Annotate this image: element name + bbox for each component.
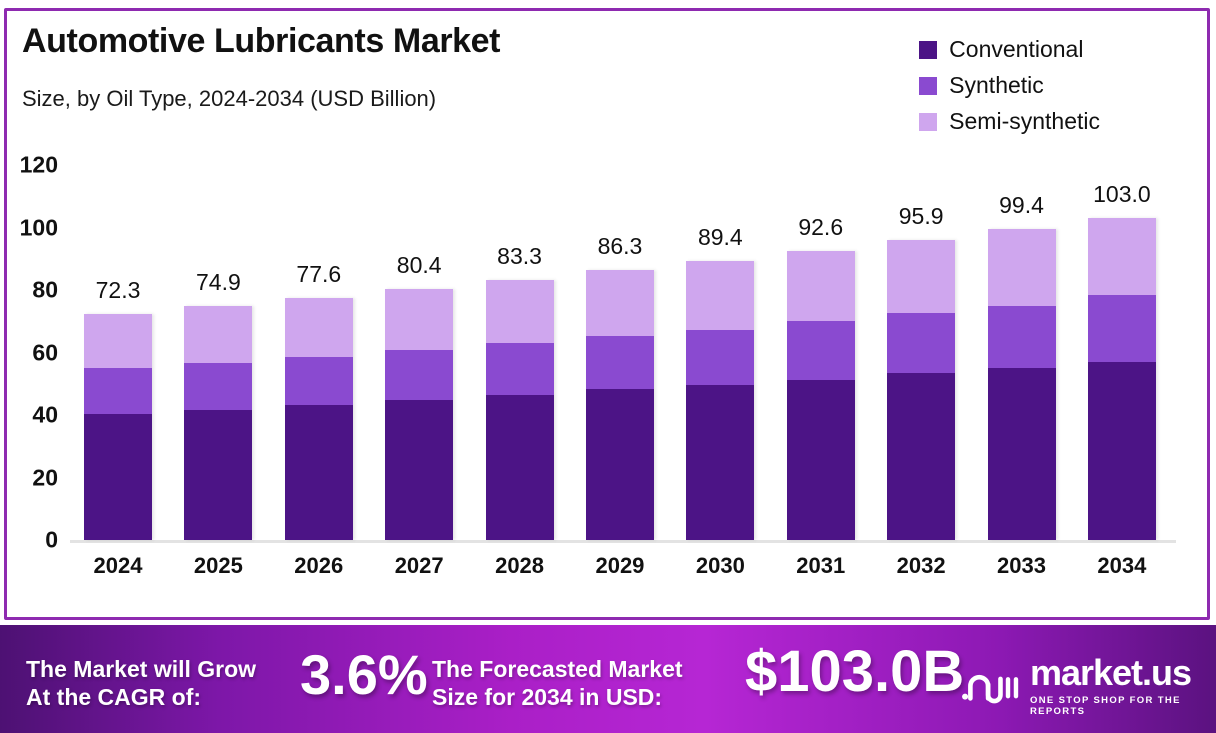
bar-group[interactable]: 89.4: [686, 165, 754, 540]
cagr-label: The Market will Grow At the CAGR of:: [26, 655, 256, 711]
bar-segment-conventional[interactable]: [787, 380, 855, 540]
legend-item[interactable]: Semi-synthetic: [919, 108, 1100, 135]
bar-segment-semi-synthetic[interactable]: [787, 251, 855, 321]
x-axis-line: [70, 540, 1176, 543]
bar-segment-synthetic[interactable]: [686, 330, 754, 385]
stacked-bar[interactable]: [385, 289, 453, 540]
bar-segment-semi-synthetic[interactable]: [586, 270, 654, 336]
x-axis-tick-label: 2034: [1088, 553, 1156, 579]
x-axis-tick-label: 2032: [887, 553, 955, 579]
page-subtitle: Size, by Oil Type, 2024-2034 (USD Billio…: [22, 86, 436, 112]
x-axis-tick-label: 2024: [84, 553, 152, 579]
plot-area: 020406080100120 72.374.977.680.483.386.3…: [70, 165, 1170, 543]
bar-value-label: 83.3: [497, 243, 542, 270]
x-axis-labels: 2024202520262027202820292030203120322033…: [70, 553, 1170, 579]
bar-segment-conventional[interactable]: [988, 368, 1056, 540]
stacked-bar[interactable]: [887, 240, 955, 540]
bar-value-label: 92.6: [798, 214, 843, 241]
stacked-bar[interactable]: [988, 229, 1056, 540]
stacked-bar[interactable]: [686, 261, 754, 540]
bar-segment-synthetic[interactable]: [887, 313, 955, 373]
x-axis-tick-label: 2028: [486, 553, 554, 579]
forecast-label-line1: The Forecasted Market: [432, 655, 683, 683]
logo-tagline: ONE STOP SHOP FOR THE REPORTS: [1030, 695, 1216, 717]
bar-value-label: 86.3: [598, 233, 643, 260]
logo-text-block: market.us ONE STOP SHOP FOR THE REPORTS: [1030, 655, 1216, 717]
bar-segment-semi-synthetic[interactable]: [486, 280, 554, 343]
bar-segment-semi-synthetic[interactable]: [285, 298, 353, 357]
bar-segment-semi-synthetic[interactable]: [1088, 218, 1156, 295]
bar-segment-conventional[interactable]: [184, 410, 252, 540]
bar-value-label: 99.4: [999, 192, 1044, 219]
bar-segment-synthetic[interactable]: [486, 343, 554, 395]
bar-value-label: 89.4: [698, 224, 743, 251]
bar-value-label: 72.3: [96, 277, 141, 304]
bottom-banner: The Market will Grow At the CAGR of: 3.6…: [0, 625, 1216, 733]
bar-segment-conventional[interactable]: [686, 385, 754, 540]
stacked-bar[interactable]: [486, 280, 554, 540]
cagr-label-line1: The Market will Grow: [26, 655, 256, 683]
stacked-bar[interactable]: [285, 298, 353, 541]
stacked-bar[interactable]: [787, 251, 855, 540]
bar-group[interactable]: 72.3: [84, 165, 152, 540]
bar-segment-synthetic[interactable]: [586, 336, 654, 389]
bar-segment-semi-synthetic[interactable]: [385, 289, 453, 350]
forecast-label: The Forecasted Market Size for 2034 in U…: [432, 655, 683, 711]
stacked-bar[interactable]: [184, 306, 252, 540]
stacked-bar[interactable]: [586, 270, 654, 540]
x-axis-tick-label: 2033: [988, 553, 1056, 579]
legend-item[interactable]: Conventional: [919, 36, 1100, 63]
chart-page: Automotive Lubricants Market Size, by Oi…: [0, 0, 1216, 733]
legend-item-label: Semi-synthetic: [949, 108, 1100, 135]
bar-segment-synthetic[interactable]: [385, 350, 453, 400]
x-axis-tick-label: 2027: [385, 553, 453, 579]
bar-group[interactable]: 74.9: [184, 165, 252, 540]
bar-segment-synthetic[interactable]: [988, 306, 1056, 369]
bar-group[interactable]: 95.9: [887, 165, 955, 540]
y-axis-tick-label: 60: [32, 339, 58, 366]
bar-group[interactable]: 92.6: [787, 165, 855, 540]
cagr-label-line2: At the CAGR of:: [26, 683, 256, 711]
bar-group[interactable]: 86.3: [586, 165, 654, 540]
y-axis-tick-label: 40: [32, 402, 58, 429]
x-axis-tick-label: 2025: [184, 553, 252, 579]
legend-item-label: Conventional: [949, 36, 1083, 63]
legend-item[interactable]: Synthetic: [919, 72, 1100, 99]
bar-segment-synthetic[interactable]: [787, 321, 855, 380]
cagr-value: 3.6%: [300, 647, 428, 703]
y-axis-tick-label: 100: [20, 214, 58, 241]
forecast-label-line2: Size for 2034 in USD:: [432, 683, 683, 711]
bar-segment-conventional[interactable]: [486, 395, 554, 540]
bar-segment-semi-synthetic[interactable]: [988, 229, 1056, 305]
stacked-bar[interactable]: [1088, 218, 1156, 540]
bar-value-label: 74.9: [196, 269, 241, 296]
market-us-logo-icon: [958, 664, 1020, 708]
bar-value-label: 77.6: [296, 261, 341, 288]
bar-segment-synthetic[interactable]: [84, 368, 152, 414]
bar-series-group: 72.374.977.680.483.386.389.492.695.999.4…: [70, 165, 1170, 540]
bar-value-label: 103.0: [1093, 181, 1151, 208]
bar-segment-conventional[interactable]: [586, 389, 654, 540]
y-axis-tick-label: 120: [20, 152, 58, 179]
legend-swatch-icon: [919, 77, 937, 95]
bar-segment-conventional[interactable]: [84, 414, 152, 540]
bar-segment-semi-synthetic[interactable]: [84, 314, 152, 368]
y-axis-tick-label: 0: [45, 527, 58, 554]
bar-segment-conventional[interactable]: [285, 405, 353, 540]
x-axis-tick-label: 2030: [686, 553, 754, 579]
bar-group[interactable]: 83.3: [486, 165, 554, 540]
x-axis-tick-label: 2031: [787, 553, 855, 579]
bar-value-label: 95.9: [899, 203, 944, 230]
x-axis-tick-label: 2026: [285, 553, 353, 579]
bar-segment-synthetic[interactable]: [285, 357, 353, 405]
bar-segment-conventional[interactable]: [1088, 362, 1156, 540]
chart-legend: ConventionalSyntheticSemi-synthetic: [919, 36, 1100, 144]
legend-swatch-icon: [919, 113, 937, 131]
bar-segment-semi-synthetic[interactable]: [686, 261, 754, 330]
bar-group[interactable]: 77.6: [285, 165, 353, 540]
legend-swatch-icon: [919, 41, 937, 59]
y-axis-tick-label: 20: [32, 464, 58, 491]
bar-group[interactable]: 103.0: [1088, 165, 1156, 540]
legend-item-label: Synthetic: [949, 72, 1044, 99]
page-title: Automotive Lubricants Market: [22, 22, 500, 61]
bar-group[interactable]: 99.4: [988, 165, 1056, 540]
bar-segment-synthetic[interactable]: [1088, 295, 1156, 362]
x-axis-tick-label: 2029: [586, 553, 654, 579]
bar-value-label: 80.4: [397, 252, 442, 279]
forecast-value: $103.0B: [745, 643, 964, 701]
bar-segment-semi-synthetic[interactable]: [887, 240, 955, 313]
bar-segment-conventional[interactable]: [385, 400, 453, 540]
y-axis-tick-label: 80: [32, 277, 58, 304]
bar-segment-semi-synthetic[interactable]: [184, 306, 252, 363]
stacked-bar[interactable]: [84, 314, 152, 540]
market-us-logo[interactable]: market.us ONE STOP SHOP FOR THE REPORTS: [958, 655, 1216, 717]
bar-group[interactable]: 80.4: [385, 165, 453, 540]
bar-segment-synthetic[interactable]: [184, 363, 252, 411]
logo-name: market.us: [1030, 655, 1216, 691]
bar-segment-conventional[interactable]: [887, 373, 955, 540]
